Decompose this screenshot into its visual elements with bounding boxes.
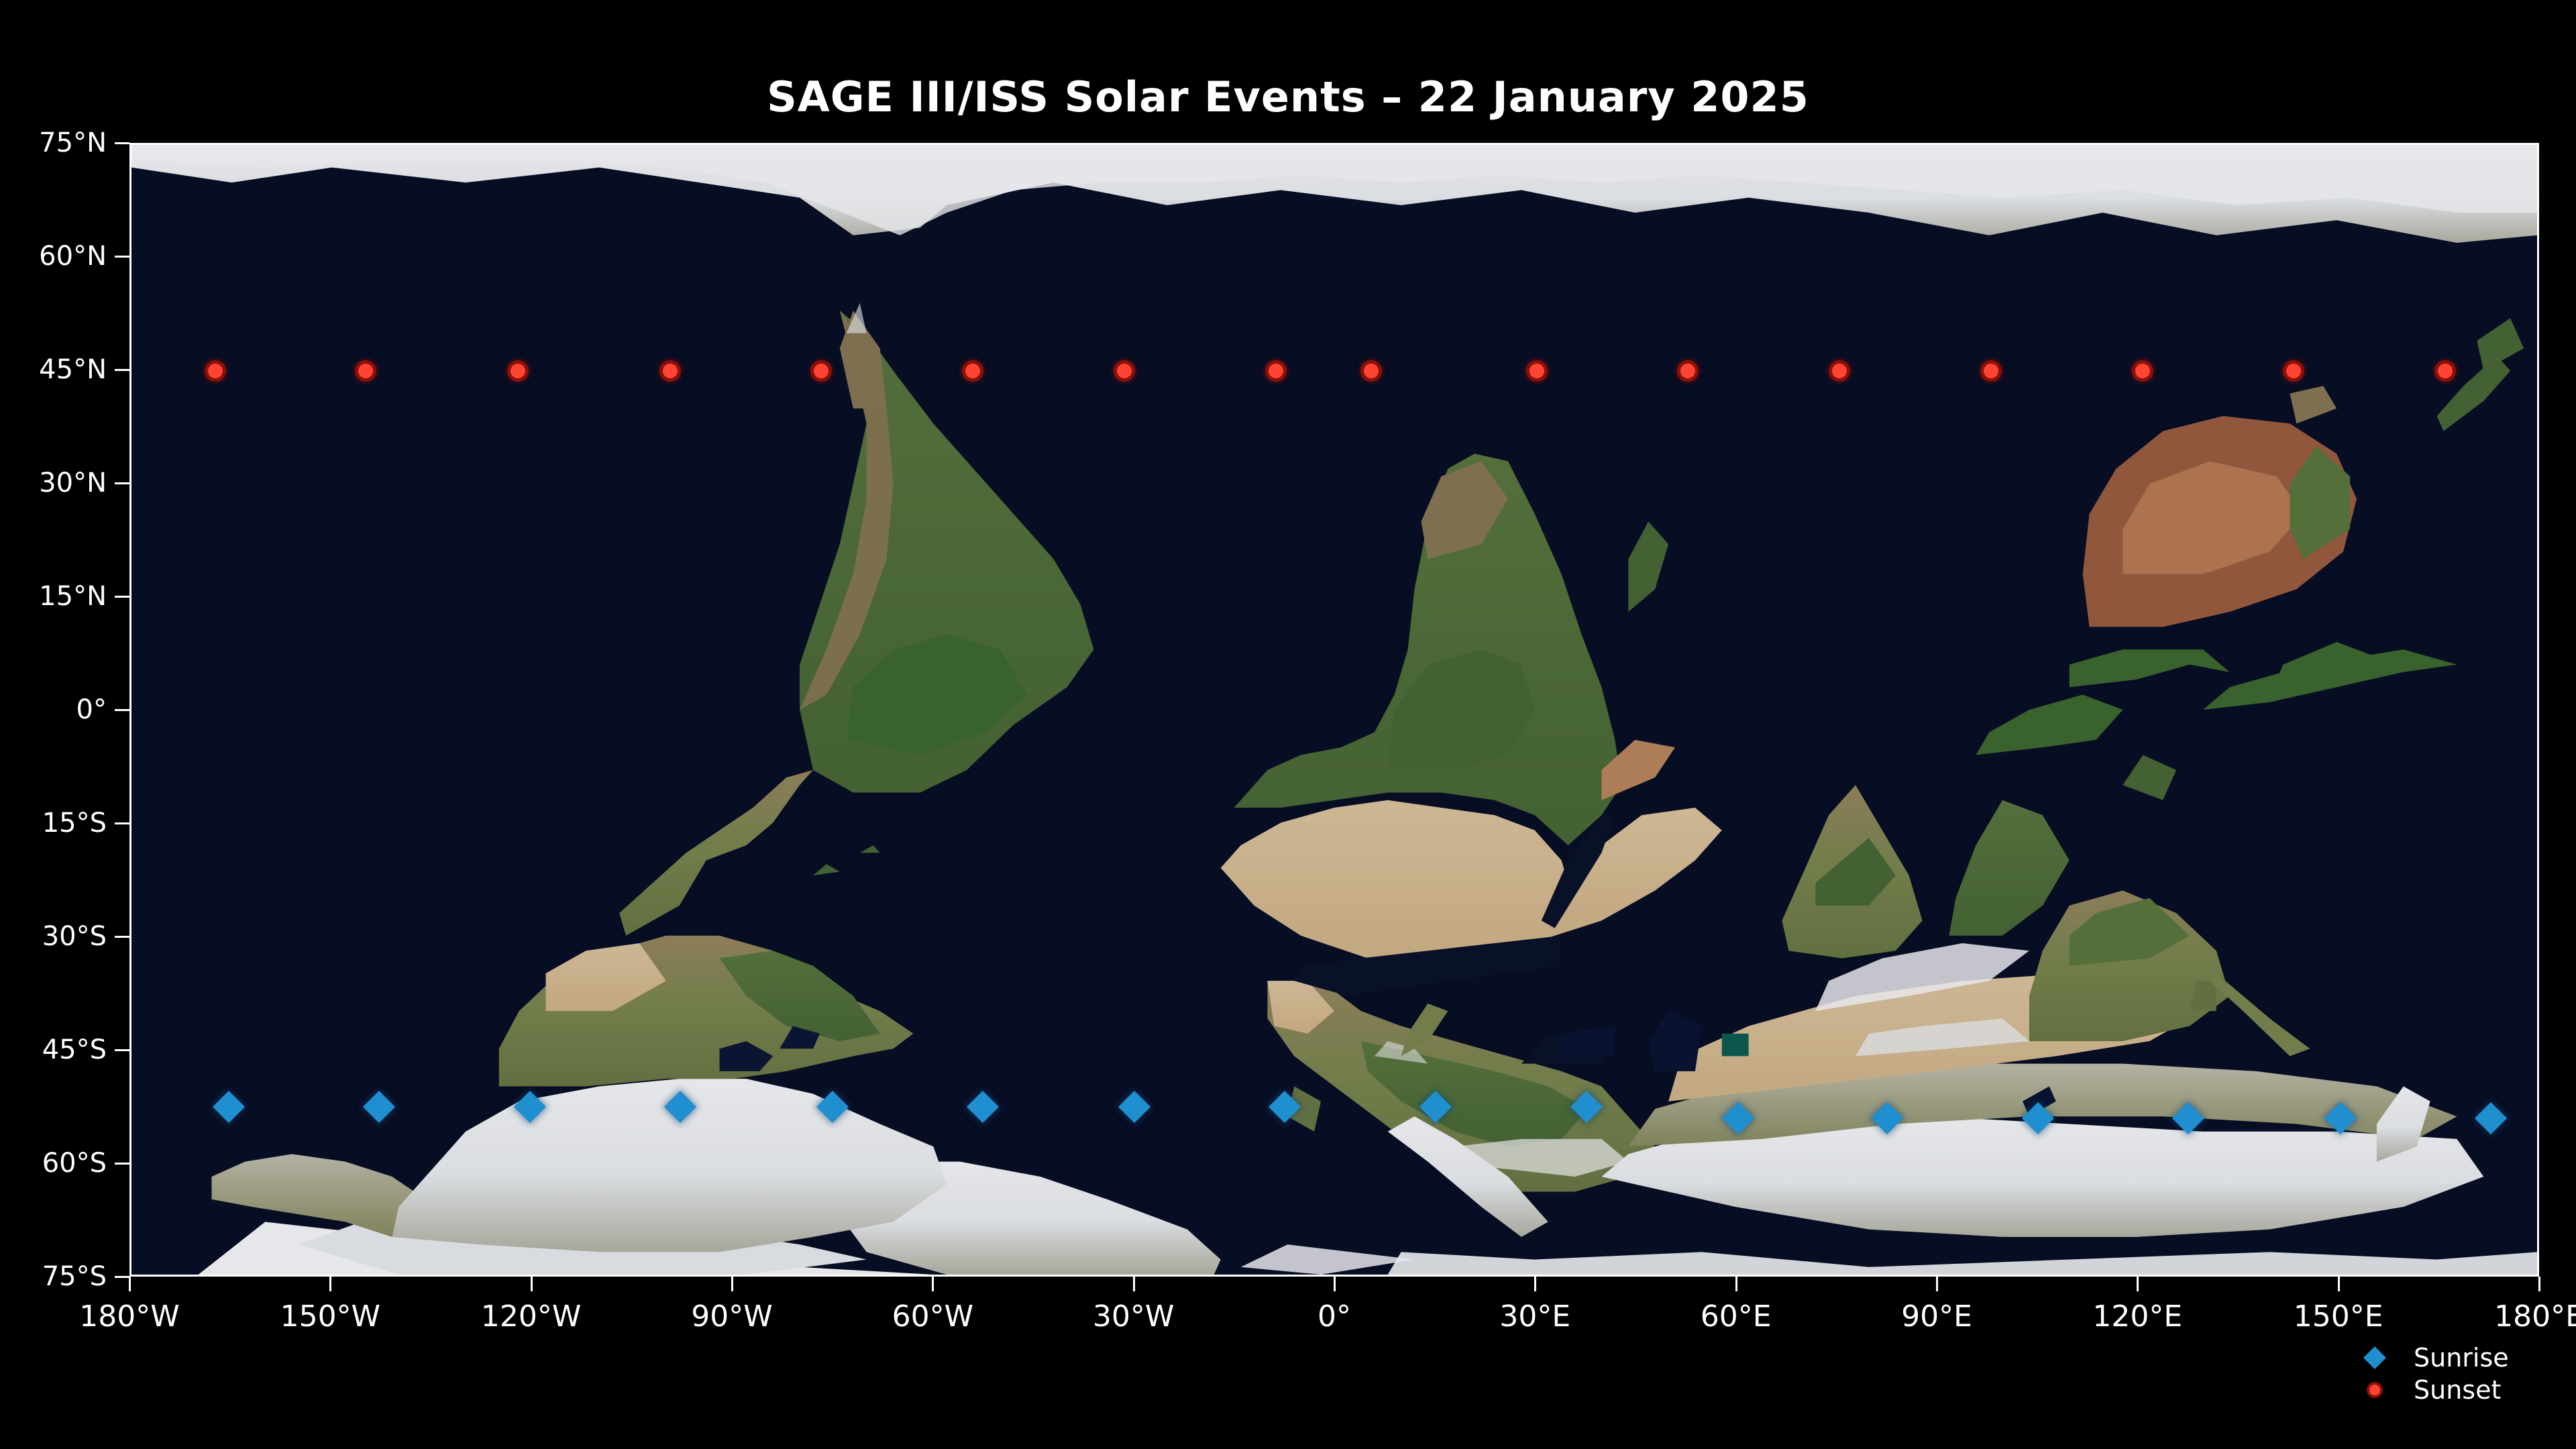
x-axis-label: 120°E: [2092, 1299, 2182, 1334]
sunset-marker: [1117, 364, 1132, 378]
y-tick: [115, 1163, 129, 1165]
x-tick: [1735, 1277, 1737, 1291]
figure-root: SAGE III/ISS Solar Events – 22 January 2…: [0, 0, 2576, 1449]
y-tick: [115, 256, 129, 258]
y-axis-label: 60°N: [0, 241, 107, 272]
y-tick: [115, 596, 129, 598]
sunset-marker: [1984, 364, 1998, 378]
x-axis: 180°W150°W120°W90°W60°W30°W0°30°E60°E90°…: [129, 1277, 2539, 1350]
x-tick: [2338, 1277, 2340, 1291]
x-tick: [1534, 1277, 1536, 1291]
y-tick: [115, 142, 129, 144]
sunset-marker: [1364, 364, 1379, 378]
legend: Sunrise Sunset: [2375, 1342, 2576, 1406]
x-axis-label: 60°E: [1701, 1299, 1772, 1334]
x-axis-label: 150°E: [2294, 1299, 2383, 1334]
sunset-marker: [2438, 364, 2453, 378]
x-tick: [329, 1277, 331, 1291]
x-tick: [1936, 1277, 1938, 1291]
sunset-marker: [965, 364, 980, 378]
basemap-svg: [131, 145, 2537, 1275]
y-axis-label: 0°: [0, 694, 107, 725]
y-axis-label: 15°S: [0, 808, 107, 839]
y-tick: [115, 369, 129, 371]
y-tick: [115, 1276, 129, 1278]
x-tick: [1334, 1277, 1336, 1291]
sunset-marker: [1529, 364, 1544, 378]
x-axis-label: 30°E: [1499, 1299, 1570, 1334]
y-axis-label: 15°N: [0, 581, 107, 612]
x-tick: [731, 1277, 733, 1291]
x-axis-label: 90°E: [1901, 1299, 1972, 1334]
y-tick: [115, 709, 129, 711]
legend-item-sunset: Sunset: [2375, 1374, 2576, 1406]
y-axis-label: 75°N: [0, 127, 107, 158]
y-axis-label: 30°S: [0, 921, 107, 952]
legend-label-sunrise: Sunrise: [2414, 1343, 2509, 1373]
x-tick: [531, 1277, 533, 1291]
sunset-circle-icon: [2369, 1385, 2380, 1395]
x-tick: [932, 1277, 934, 1291]
sunset-marker: [2286, 364, 2301, 378]
legend-item-sunrise: Sunrise: [2375, 1342, 2576, 1374]
x-axis-label: 0°: [1318, 1299, 1351, 1334]
y-tick: [115, 482, 129, 484]
sunset-marker: [1832, 364, 1847, 378]
sunset-marker: [814, 364, 828, 378]
sunset-marker: [358, 364, 373, 378]
x-axis-label: 90°W: [691, 1299, 773, 1334]
x-tick: [1133, 1277, 1135, 1291]
x-tick: [2137, 1277, 2139, 1291]
y-tick: [115, 936, 129, 938]
page-title: SAGE III/ISS Solar Events – 22 January 2…: [0, 72, 2576, 121]
x-axis-label: 120°W: [481, 1299, 582, 1334]
sunset-marker: [1680, 364, 1695, 378]
legend-label-sunset: Sunset: [2414, 1375, 2501, 1405]
y-tick: [115, 822, 129, 824]
world-map-plot: [129, 143, 2539, 1277]
x-tick: [2538, 1277, 2540, 1291]
y-axis-label: 45°S: [0, 1034, 107, 1065]
x-axis-label: 60°W: [892, 1299, 974, 1334]
y-axis-label: 45°N: [0, 354, 107, 385]
x-axis-label: 150°W: [280, 1299, 381, 1334]
x-axis-label: 180°E: [2494, 1299, 2576, 1334]
x-tick: [129, 1277, 131, 1291]
map-texture: [131, 145, 2537, 1275]
x-axis-label: 180°W: [79, 1299, 180, 1334]
sunset-marker: [2135, 364, 2150, 378]
y-axis-label: 30°N: [0, 468, 107, 498]
sunset-marker: [208, 364, 223, 378]
x-axis-label: 30°W: [1093, 1299, 1175, 1334]
sunset-marker: [663, 364, 678, 378]
sunset-marker: [1269, 364, 1283, 378]
y-axis-label: 75°S: [0, 1261, 107, 1292]
y-tick: [115, 1049, 129, 1051]
y-axis-label: 60°S: [0, 1148, 107, 1179]
sunset-marker: [511, 364, 525, 378]
